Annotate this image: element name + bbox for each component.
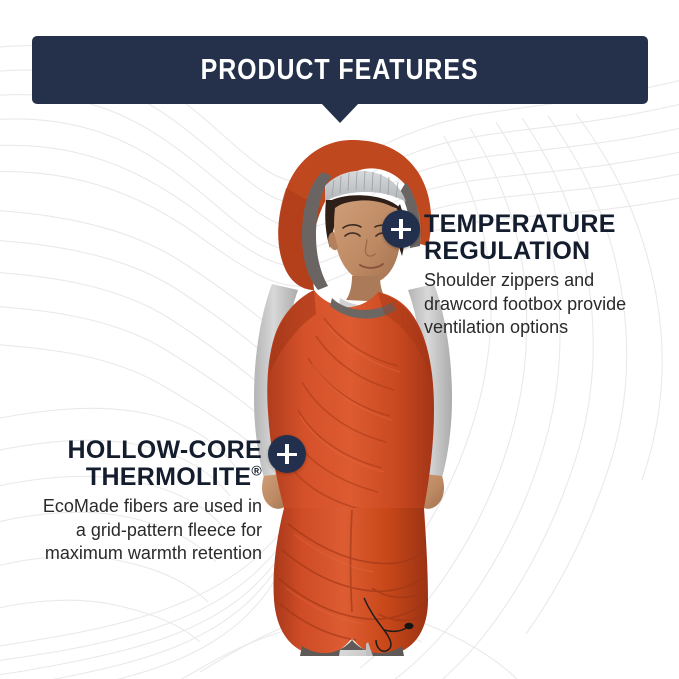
infographic-page: PRODUCT FEATURES: [0, 0, 679, 679]
plus-icon-hollow-core-thermolite[interactable]: [268, 435, 306, 473]
callout-heading-temperature-regulation: TEMPERATURE REGULATION: [424, 211, 654, 265]
sock-left: [335, 650, 371, 656]
plus-icon-vertical-bar: [285, 444, 288, 464]
banner-pointer-triangle: [321, 103, 359, 123]
product-photo: [228, 126, 478, 656]
callout-temperature-regulation: TEMPERATURE REGULATION Shoulder zippers …: [424, 211, 654, 340]
registered-trademark-symbol: ®: [251, 463, 262, 479]
drawcord-toggle: [405, 623, 414, 629]
callout-heading-hollow-core-thermolite: HOLLOW-CORE THERMOLITE®: [40, 437, 262, 491]
page-title: PRODUCT FEATURES: [201, 54, 479, 87]
plus-icon-temperature-regulation[interactable]: [382, 210, 420, 248]
callout-body-hollow-core-thermolite: EcoMade fibers are used in a grid-patter…: [40, 495, 262, 566]
callout-heading-text: HOLLOW-CORE THERMOLITE: [68, 436, 262, 491]
callout-body-temperature-regulation: Shoulder zippers and drawcord footbox pr…: [424, 269, 654, 340]
callout-hollow-core-thermolite: HOLLOW-CORE THERMOLITE® EcoMade fibers a…: [40, 437, 262, 566]
plus-icon-vertical-bar: [399, 219, 402, 239]
header-banner: PRODUCT FEATURES: [32, 36, 648, 104]
